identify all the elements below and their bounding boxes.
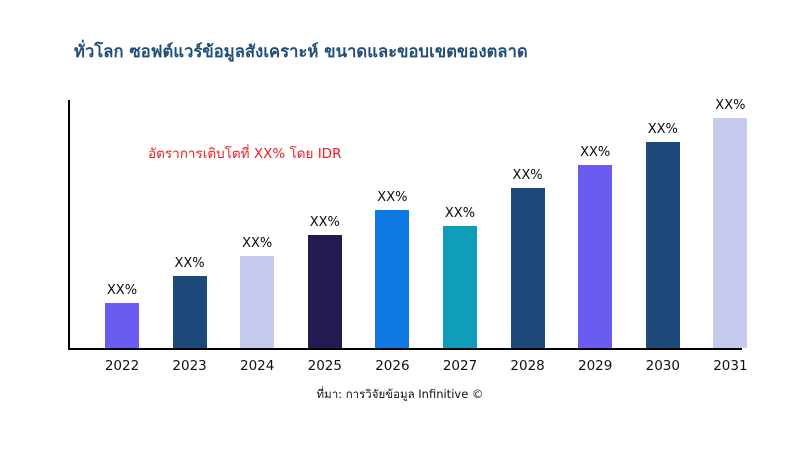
bar-rect-2031[interactable] xyxy=(713,118,747,348)
x-tick-label-2025: 2025 xyxy=(293,358,357,374)
bar-rect-2022[interactable] xyxy=(105,303,139,348)
bar-rect-2023[interactable] xyxy=(173,276,207,348)
x-tick-label-2022: 2022 xyxy=(90,358,154,374)
x-tick-label-2027: 2027 xyxy=(428,358,492,374)
bar-rect-2028[interactable] xyxy=(511,188,545,348)
plot-area: XX%XX%XX%XX%XX%XX%XX%XX%XX%XX% xyxy=(68,100,742,350)
x-tick-label-2026: 2026 xyxy=(360,358,424,374)
bar-value-label-2026: XX% xyxy=(363,190,421,205)
bar-rect-2030[interactable] xyxy=(646,142,680,348)
bar-value-label-2029: XX% xyxy=(566,145,624,160)
bar-value-label-2022: XX% xyxy=(93,283,151,298)
x-tick-label-2029: 2029 xyxy=(563,358,627,374)
bar-value-label-2023: XX% xyxy=(161,256,219,271)
bar-rect-2024[interactable] xyxy=(240,256,274,348)
x-tick-label-2024: 2024 xyxy=(225,358,289,374)
bar-rect-2027[interactable] xyxy=(443,226,477,348)
chart-title: ทั่วโลก ซอฟต์แวร์ข้อมูลสังเคราะห์ ขนาดแล… xyxy=(74,39,528,65)
bar-value-label-2030: XX% xyxy=(634,122,692,137)
x-tick-label-2023: 2023 xyxy=(158,358,222,374)
x-axis-line xyxy=(68,348,742,350)
y-axis-line xyxy=(68,100,70,350)
bar-rect-2029[interactable] xyxy=(578,165,612,348)
bar-value-label-2024: XX% xyxy=(228,236,286,251)
x-tick-label-2028: 2028 xyxy=(496,358,560,374)
bar-rect-2025[interactable] xyxy=(308,235,342,348)
growth-rate-annotation: อัตราการเติบโตที่ XX% โดย IDR xyxy=(148,142,341,164)
source-note: ที่มา: การวิจัยข้อมูล Infinitive © xyxy=(0,386,800,404)
x-tick-label-2030: 2030 xyxy=(631,358,695,374)
bar-value-label-2025: XX% xyxy=(296,215,354,230)
bar-value-label-2031: XX% xyxy=(701,98,759,113)
bar-rect-2026[interactable] xyxy=(375,210,409,348)
chart-container: ทั่วโลก ซอฟต์แวร์ข้อมูลสังเคราะห์ ขนาดแล… xyxy=(0,0,800,450)
bar-value-label-2027: XX% xyxy=(431,206,489,221)
bar-value-label-2028: XX% xyxy=(499,168,557,183)
x-tick-label-2031: 2031 xyxy=(698,358,762,374)
